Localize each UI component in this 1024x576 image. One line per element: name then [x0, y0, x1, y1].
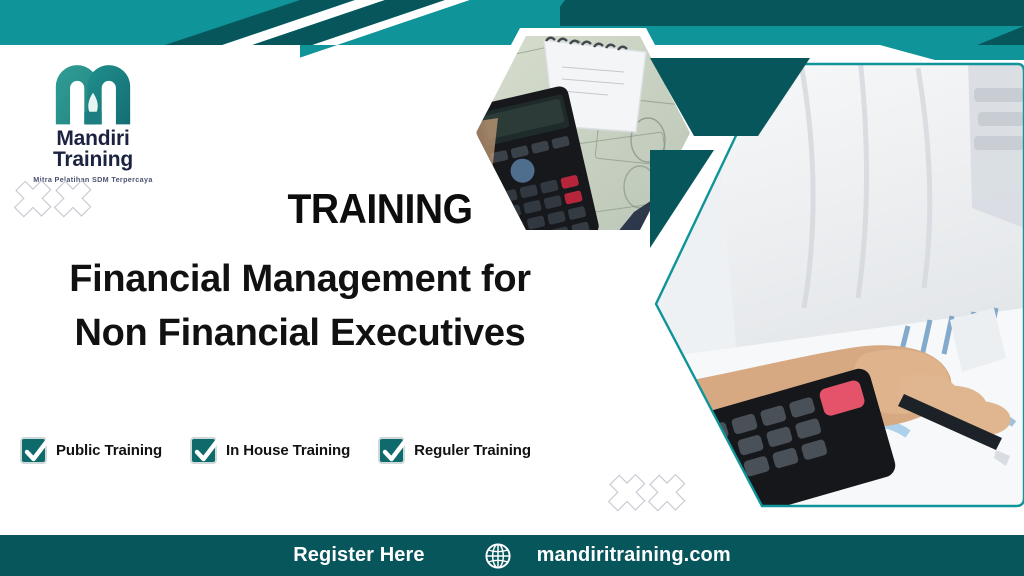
right-photo-svg: [650, 58, 1024, 508]
website-label[interactable]: mandiritraining.com: [537, 544, 731, 567]
right-photo-person-writing: [650, 58, 1024, 508]
brand-logo-block: Mandiri Training Mitra Pelatihan SDM Ter…: [18, 58, 168, 184]
decoration-crosses-left: [14, 178, 96, 227]
mandiri-m-arch-logo-icon: [49, 58, 137, 126]
logo-arch-join: [84, 112, 101, 125]
check-mark-icon: [20, 434, 54, 468]
page-kicker: TRAINING: [203, 185, 556, 233]
footer-bar: Register Here mandiritraining.com: [0, 535, 1024, 576]
footer-content: Register Here mandiritraining.com: [293, 543, 731, 569]
training-option-label: Reguler Training: [414, 442, 531, 459]
training-option-in-house[interactable]: In House Training: [190, 437, 350, 464]
training-option-label: Public Training: [56, 442, 162, 459]
check-mark-icon: [190, 434, 224, 468]
globe-icon: [485, 543, 511, 569]
training-option-public[interactable]: Public Training: [20, 437, 162, 464]
checkbox-checked-icon[interactable]: [20, 437, 47, 464]
checkbox-checked-icon[interactable]: [378, 437, 405, 464]
training-options-row: Public Training In House Training Regule…: [20, 437, 531, 464]
page-title: Financial Management for Non Financial E…: [22, 253, 578, 361]
x-cross-outline-icon: [14, 178, 96, 222]
brand-name: Mandiri Training: [18, 128, 168, 170]
page-title-line-1: Financial Management for: [22, 253, 578, 307]
page-title-line-2: Non Financial Executives: [22, 307, 578, 361]
poster-canvas: Mandiri Training Mitra Pelatihan SDM Ter…: [0, 0, 1024, 576]
register-here-label: Register Here: [293, 544, 424, 567]
checkbox-checked-icon[interactable]: [190, 437, 217, 464]
training-option-reguler[interactable]: Reguler Training: [378, 437, 531, 464]
check-mark-icon: [378, 434, 412, 468]
globe-icon-svg: [485, 543, 511, 569]
training-option-label: In House Training: [226, 442, 350, 459]
